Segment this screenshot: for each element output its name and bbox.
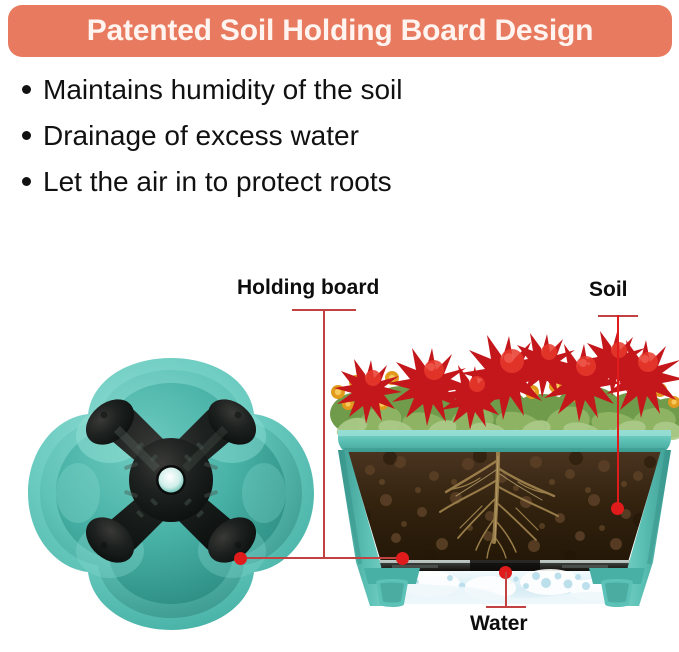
feature-list: Maintains humidity of the soil Drainage … bbox=[22, 70, 582, 208]
page-title: Patented Soil Holding Board Design bbox=[87, 16, 594, 46]
header-banner: Patented Soil Holding Board Design bbox=[8, 5, 672, 57]
list-item: Maintains humidity of the soil bbox=[22, 70, 582, 116]
annotation-label-holding-board: Holding board bbox=[237, 276, 379, 300]
drain-hole bbox=[159, 468, 184, 493]
bullet-dot-icon bbox=[22, 131, 31, 140]
feature-text: Maintains humidity of the soil bbox=[43, 70, 403, 110]
list-item: Let the air in to protect roots bbox=[22, 162, 582, 208]
annotation-label-water: Water bbox=[470, 612, 528, 636]
water-leader-bottom bbox=[486, 606, 526, 608]
annotation-label-soil: Soil bbox=[589, 278, 628, 302]
holding-board-leader-stem bbox=[323, 309, 325, 559]
bullet-dot-icon bbox=[22, 85, 31, 94]
feature-text: Let the air in to protect roots bbox=[43, 162, 392, 202]
planter-top-view bbox=[18, 352, 324, 652]
list-item: Drainage of excess water bbox=[22, 116, 582, 162]
product-infographic: Patented Soil Holding Board Design Maint… bbox=[0, 0, 679, 646]
holding-board-marker-left bbox=[234, 552, 247, 565]
soil-marker bbox=[611, 502, 624, 515]
soil-leader-stem bbox=[617, 315, 619, 507]
plant-foliage bbox=[330, 331, 679, 445]
water-leader-stem bbox=[505, 572, 507, 608]
holding-board-leader-bottom bbox=[242, 557, 404, 559]
holding-board-marker-right bbox=[396, 552, 409, 565]
bullet-dot-icon bbox=[22, 177, 31, 186]
feature-text: Drainage of excess water bbox=[43, 116, 359, 156]
